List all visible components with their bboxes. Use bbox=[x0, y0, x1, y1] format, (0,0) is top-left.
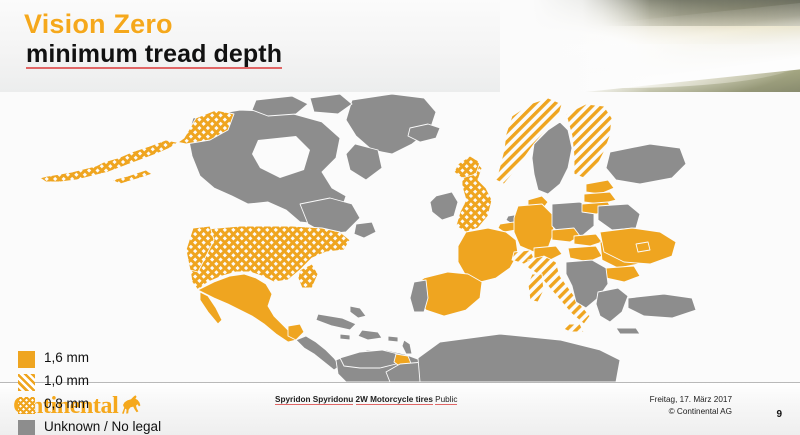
region-crete bbox=[616, 328, 640, 334]
region-canada-islands-2 bbox=[310, 94, 352, 114]
region-hispaniola bbox=[358, 330, 382, 340]
region-finland bbox=[566, 104, 612, 178]
page-title-accent: Vision Zero bbox=[24, 10, 282, 38]
legend-label-unknown: Unknown / No legal minimum tread depth bbox=[44, 419, 171, 435]
region-ireland bbox=[430, 192, 458, 220]
footer-author: Spyridon Spyridonu bbox=[275, 394, 353, 405]
hero-image-container: 3. Zero Accidents 2. Zero Injuries 1. Ze… bbox=[500, 0, 800, 92]
region-newfoundland bbox=[354, 222, 376, 238]
region-slovakia bbox=[574, 234, 602, 246]
legend-swatch-gray-icon bbox=[18, 420, 35, 435]
region-lesser-antilles bbox=[402, 340, 412, 354]
map-legend: 1,6 mm 1,0 mm 0,8 mm Unknown / No legal … bbox=[18, 350, 171, 435]
region-jamaica bbox=[340, 334, 350, 340]
slide-header: 3. Zero Accidents 2. Zero Injuries 1. Ze… bbox=[0, 0, 800, 92]
footer-author-block: Spyridon Spyridonu 2W Motorcycle tires P… bbox=[275, 394, 457, 405]
legend-label-08mm: 0,8 mm bbox=[44, 396, 89, 413]
region-usa bbox=[190, 226, 350, 290]
region-greenland-south bbox=[346, 144, 382, 180]
legend-item-unknown: Unknown / No legal minimum tread depth bbox=[18, 419, 171, 435]
page-number: 9 bbox=[776, 409, 782, 420]
footer-copyright: © Continental AG bbox=[650, 406, 732, 418]
region-north-africa bbox=[418, 334, 620, 382]
region-turkey bbox=[628, 294, 696, 318]
region-belarus bbox=[598, 204, 640, 230]
region-canada-islands-1 bbox=[252, 96, 308, 116]
legend-item-16mm: 1,6 mm bbox=[18, 350, 171, 368]
legend-item-10mm: 1,0 mm bbox=[18, 373, 171, 391]
world-map-region: 1,6 mm 1,0 mm 0,8 mm Unknown / No legal … bbox=[0, 92, 800, 382]
region-moldova bbox=[636, 242, 650, 252]
slide-canvas: 3. Zero Accidents 2. Zero Injuries 1. Ze… bbox=[0, 0, 800, 435]
page-subtitle: minimum tread depth bbox=[26, 41, 282, 69]
footer-date: Freitag, 17. März 2017 bbox=[650, 394, 732, 406]
legend-label-10mm: 1,0 mm bbox=[44, 373, 89, 390]
region-greece bbox=[596, 288, 628, 322]
region-puerto-rico bbox=[388, 336, 398, 342]
legend-item-08mm: 0,8 mm bbox=[18, 396, 171, 414]
title-block: Vision Zero minimum tread depth bbox=[24, 10, 282, 69]
region-central-america bbox=[296, 336, 340, 370]
region-aleutians bbox=[112, 170, 152, 184]
legend-label-16mm: 1,6 mm bbox=[44, 350, 89, 367]
legend-swatch-solid-icon bbox=[18, 351, 35, 368]
legend-swatch-crosshatch-icon bbox=[18, 397, 35, 414]
world-map-svg bbox=[0, 92, 800, 382]
region-portugal bbox=[410, 280, 428, 312]
region-bahamas bbox=[350, 306, 366, 318]
footer-classification: Public bbox=[435, 394, 457, 405]
hero-fade-overlay bbox=[500, 0, 650, 92]
region-germany bbox=[514, 204, 554, 252]
footer-department: 2W Motorcycle tires bbox=[356, 394, 433, 405]
footer-meta-block: Freitag, 17. März 2017 © Continental AG bbox=[650, 394, 732, 419]
region-sicily bbox=[562, 324, 584, 332]
region-venezuela-colombia bbox=[340, 350, 398, 368]
region-russia-west bbox=[606, 144, 686, 184]
region-hungary bbox=[568, 246, 602, 262]
region-bulgaria bbox=[606, 266, 640, 282]
region-sardinia-corsica bbox=[528, 274, 544, 302]
region-cuba bbox=[316, 314, 356, 330]
legend-swatch-diagonal-icon bbox=[18, 374, 35, 391]
